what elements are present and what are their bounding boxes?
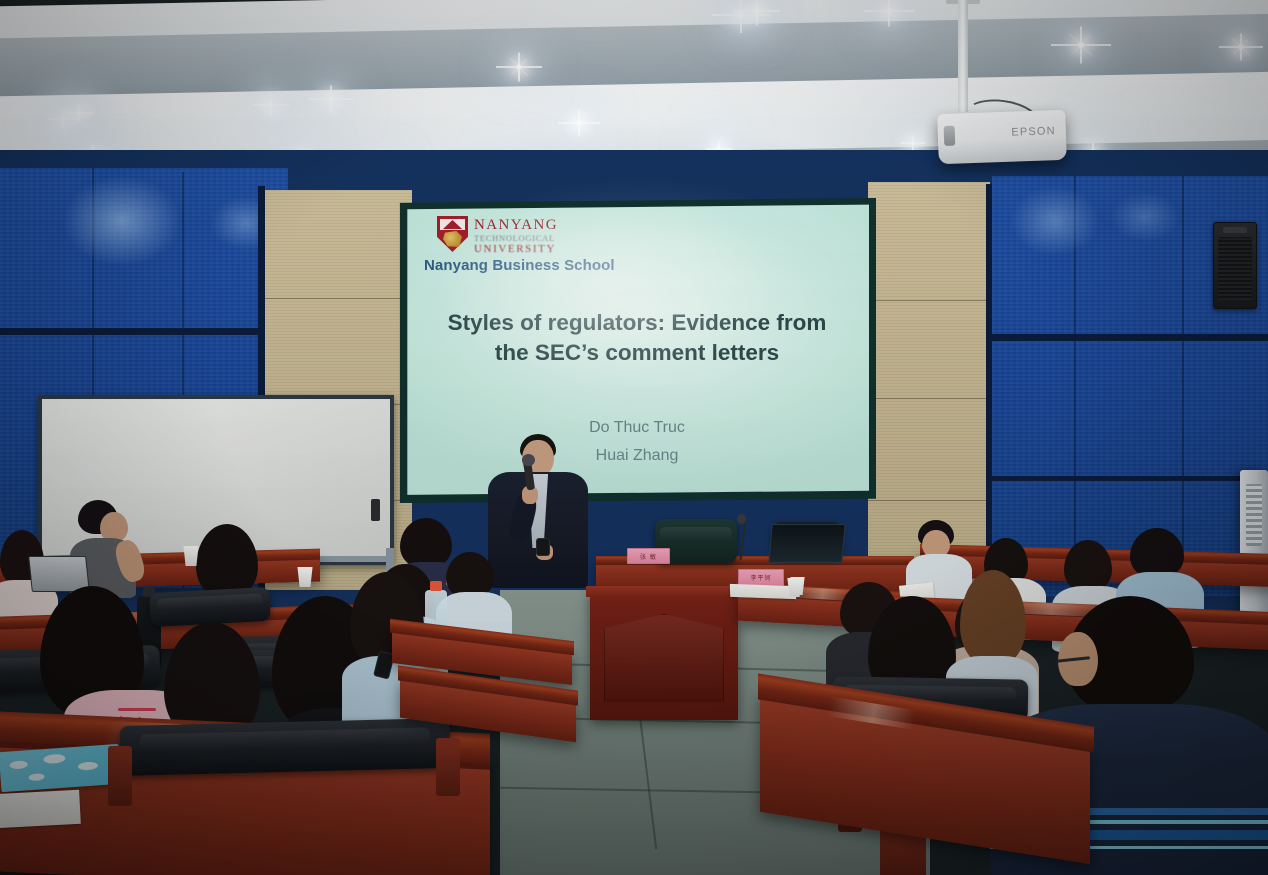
ntu-logo-line3: UNIVERSITY (474, 244, 558, 255)
ntu-crest-icon (437, 216, 468, 252)
chair-frame (108, 746, 132, 806)
hair (1130, 528, 1184, 578)
laptop-icon (768, 524, 845, 563)
nameplate-card: 张 敏 (627, 548, 670, 564)
paper-sheet (730, 584, 796, 599)
presentation-clicker-icon (536, 538, 550, 556)
ac-unit-icon (1240, 470, 1268, 620)
wall-speaker-icon (1213, 222, 1257, 309)
microphone-capsule-icon (522, 454, 535, 466)
ntu-logo: NANYANG TECHNOLOGICAL UNIVERSITY (437, 216, 558, 255)
hair (400, 518, 452, 568)
slide-title-line2: the SEC’s comment letters (439, 338, 835, 368)
slide-school-name: Nanyang Business School (424, 257, 615, 274)
chair-frame (436, 738, 460, 796)
projector-brand-label: EPSON (1011, 125, 1056, 139)
nameplate-text: 李平钶 (750, 573, 771, 582)
presenter (470, 426, 600, 586)
hair (1064, 540, 1112, 592)
notebook (0, 744, 121, 792)
slide-title: Styles of regulators: Evidence from the … (405, 308, 869, 368)
paper-sheet (0, 790, 81, 828)
nameplate-text: 张 敏 (640, 552, 657, 561)
ntu-logo-line1: NANYANG (474, 218, 558, 233)
chair-back (119, 718, 450, 776)
microphone-head-icon (737, 514, 746, 524)
slide-title-line1: Styles of regulators: Evidence from (439, 308, 835, 338)
lecture-hall-photo: EPSON NANYANG TECHNOLOGICAL UNIVERSITY (0, 0, 1268, 875)
ntu-logo-line2: TECHNOLOGICAL (474, 234, 558, 243)
ceiling-projector-icon: EPSON (937, 110, 1067, 164)
tshirt-print-bar (118, 708, 156, 711)
projector-mount-pole (958, 0, 968, 112)
